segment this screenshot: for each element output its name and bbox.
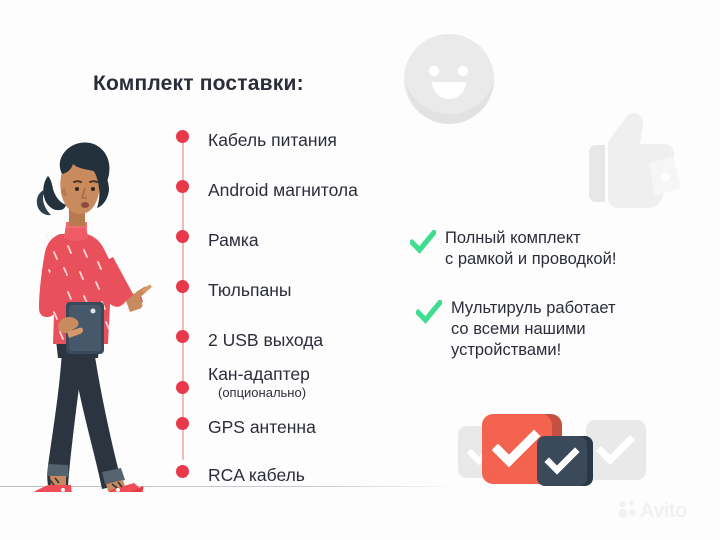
list-item-label: Кан-адаптер (опционально) <box>208 365 310 401</box>
feature-line-2: со всеми нашими <box>451 320 586 338</box>
bullet-dot <box>176 330 189 343</box>
package-contents-list: Кабель питания Android магнитола Рамка Т… <box>176 130 426 487</box>
bullet-dot <box>176 417 189 430</box>
bullet-dot <box>176 180 189 193</box>
list-item: 2 USB выхода <box>176 330 426 352</box>
smiley-face-icon <box>403 33 495 125</box>
feature-line-1: Полный комплект <box>445 229 581 247</box>
bullet-dot <box>176 465 189 478</box>
list-item: Кабель питания <box>176 130 426 152</box>
checkbox-tile-navy <box>537 436 587 486</box>
promo-image-canvas: Комплект поставки: Кабель питания Androi… <box>0 0 720 540</box>
feature-text: Полный комплект с рамкой и проводкой! <box>445 228 616 270</box>
list-item-label: Рамка <box>208 230 259 250</box>
feature-item-multiwheel: Мультируль работает со всеми нашими устр… <box>416 298 616 361</box>
list-item: Рамка <box>176 230 426 252</box>
feature-line-3: устройствами! <box>451 341 561 359</box>
list-item: Кан-адаптер (опционально) <box>176 374 426 401</box>
list-item: Android магнитола <box>176 180 426 202</box>
illustration-woman-pointing <box>8 112 178 492</box>
green-check-icon <box>410 230 436 259</box>
list-item: Тюльпаны <box>176 280 426 302</box>
list-item-label: Android магнитола <box>208 180 358 200</box>
list-item: GPS антенна <box>176 417 426 439</box>
feature-line-2: с рамкой и проводкой! <box>445 250 616 268</box>
avito-watermark-text: Avito <box>640 500 687 523</box>
page-title: Комплект поставки: <box>93 72 304 96</box>
list-item: RCA кабель <box>176 465 426 487</box>
bullet-dot <box>176 130 189 143</box>
avito-dots-logo <box>617 499 637 524</box>
list-item-label: Кабель питания <box>208 130 337 150</box>
bullet-dot <box>176 280 189 293</box>
bullet-dot <box>176 230 189 243</box>
bullet-dot <box>176 381 189 394</box>
feature-item-full-kit: Полный комплект с рамкой и проводкой! <box>410 228 616 270</box>
green-check-icon <box>416 300 442 329</box>
list-item-label: RCA кабель <box>208 465 305 485</box>
list-item-note: (опционально) <box>218 384 310 401</box>
list-item-label: 2 USB выхода <box>208 330 323 350</box>
list-item-label: Тюльпаны <box>208 280 291 300</box>
thumbs-up-icon <box>575 105 687 217</box>
checkbox-tiles-decoration <box>458 408 648 488</box>
avito-watermark: Avito <box>617 499 687 524</box>
list-item-label: GPS антенна <box>208 417 316 437</box>
checkbox-tile-gray-right <box>586 420 646 480</box>
feature-text: Мультируль работает со всеми нашими устр… <box>451 298 616 361</box>
list-item-main-label: Кан-адаптер <box>208 364 310 384</box>
feature-line-1: Мультируль работает <box>451 299 616 317</box>
